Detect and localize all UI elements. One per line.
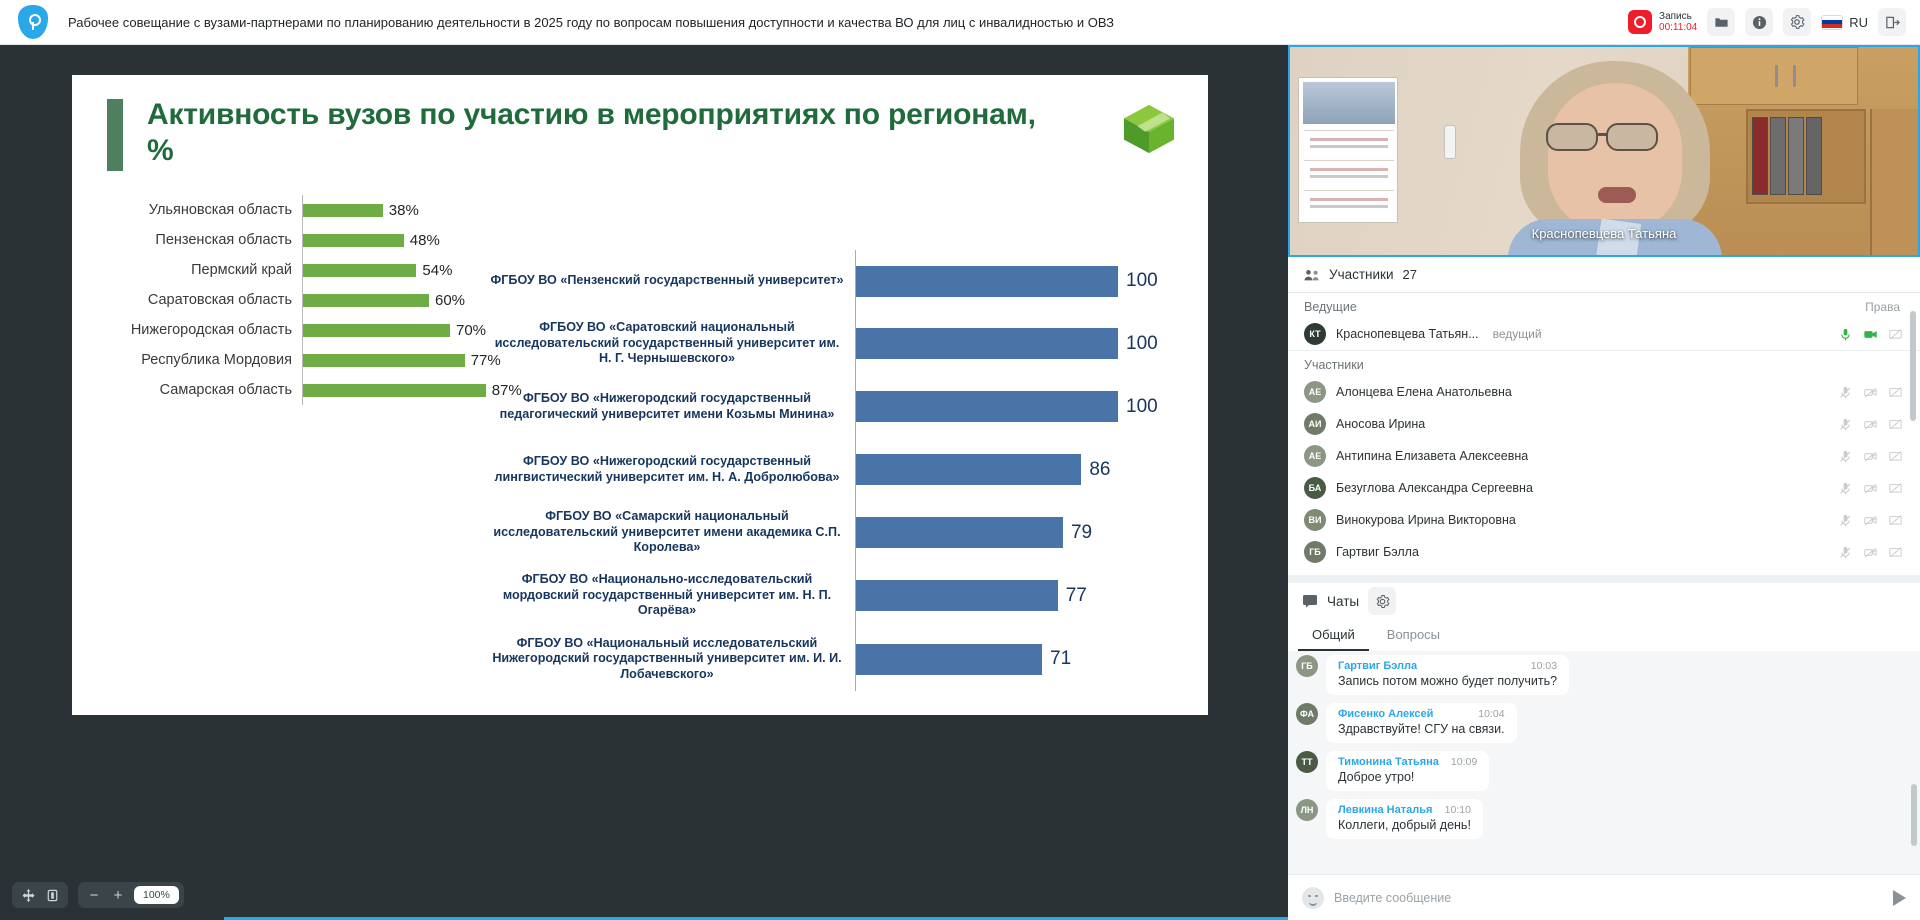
university-bar-row: ФГБОУ ВО «Нижегородский государственный … bbox=[487, 438, 1187, 501]
university-bar-track: 79 bbox=[855, 501, 1187, 564]
presentation-stage[interactable]: Активность вузов по участию в мероприяти… bbox=[0, 45, 1288, 920]
participant-row[interactable]: АЕАлонцева Елена Анатольевна bbox=[1288, 376, 1920, 408]
cube-decoration-icon bbox=[1120, 103, 1178, 155]
participant-controls bbox=[1839, 546, 1902, 559]
participant-name: Алонцева Елена Анатольевна bbox=[1336, 385, 1512, 399]
universities-bar-chart: ФГБОУ ВО «Пензенский государственный уни… bbox=[487, 250, 1187, 695]
send-icon[interactable] bbox=[1893, 890, 1906, 906]
message-time: 10:09 bbox=[1451, 756, 1477, 768]
message-author: Гартвиг Бэлла bbox=[1338, 660, 1417, 672]
top-bar: Рабочее совещание с вузами-партнерами по… bbox=[0, 0, 1920, 45]
recording-timer: 00:11:04 bbox=[1659, 22, 1697, 34]
microphone-icon[interactable] bbox=[1839, 328, 1852, 341]
chat-panel: Чаты ОбщийВопросы ГБГартвиг Бэлла10:03За… bbox=[1288, 575, 1920, 920]
regions-bar-label: Нижегородская область bbox=[92, 322, 302, 338]
avatar: ВИ bbox=[1304, 509, 1326, 531]
regions-bar-label: Самарская область bbox=[92, 382, 302, 398]
university-bar-row: ФГБОУ ВО «Национально-исследовательский … bbox=[487, 564, 1187, 627]
section-title: Ведущие bbox=[1304, 300, 1357, 314]
avatar: АИ bbox=[1304, 413, 1326, 435]
university-bar bbox=[856, 644, 1042, 675]
chat-message: ТТТимонина Татьяна10:09Доброе утро! bbox=[1296, 751, 1912, 791]
university-bar-row: ФГБОУ ВО «Самарский национальный исследо… bbox=[487, 501, 1187, 564]
video-frame bbox=[1290, 47, 1918, 255]
regions-bar-label: Республика Мордовия bbox=[92, 352, 302, 368]
camera-icon[interactable] bbox=[1864, 418, 1877, 431]
app-logo-icon bbox=[18, 5, 48, 39]
university-bar-value: 79 bbox=[1071, 522, 1092, 544]
emoji-icon[interactable] bbox=[1302, 887, 1324, 909]
participant-name: Антипина Елизавета Алексеевна bbox=[1336, 449, 1528, 463]
regions-bar-label: Пензенская область bbox=[92, 232, 302, 248]
university-bar bbox=[856, 328, 1118, 359]
camera-icon[interactable] bbox=[1864, 482, 1877, 495]
record-icon bbox=[1628, 10, 1652, 34]
university-bar bbox=[856, 454, 1081, 485]
university-bar-row: ФГБОУ ВО «Национальный исследовательский… bbox=[487, 627, 1187, 691]
university-bar-track: 100 bbox=[855, 250, 1187, 312]
avatar: ФА bbox=[1296, 703, 1318, 725]
university-bar-row: ФГБОУ ВО «Пензенский государственный уни… bbox=[487, 250, 1187, 312]
message-time: 10:04 bbox=[1478, 708, 1504, 720]
regions-bar bbox=[303, 384, 486, 397]
message-author: Фисенко Алексей bbox=[1338, 708, 1433, 720]
message-time: 10:10 bbox=[1445, 804, 1471, 816]
participant-row[interactable]: АЕАнтипина Елизавета Алексеевна bbox=[1288, 440, 1920, 472]
camera-icon[interactable] bbox=[1864, 386, 1877, 399]
message-time: 10:03 bbox=[1531, 660, 1557, 672]
regions-bar-row: Ульяновская область38% bbox=[92, 195, 542, 225]
message-author: Левкина Наталья bbox=[1338, 804, 1432, 816]
screen-share-icon[interactable] bbox=[1889, 328, 1902, 341]
university-bar bbox=[856, 580, 1058, 611]
university-bar-row: ФГБОУ ВО «Нижегородский государственный … bbox=[487, 375, 1187, 438]
participant-row[interactable]: БАБезуглова Александра Сергеевна bbox=[1288, 472, 1920, 504]
university-bar-track: 71 bbox=[855, 627, 1187, 691]
chat-input-row[interactable]: Введите сообщение bbox=[1288, 874, 1920, 920]
slide-canvas: Активность вузов по участию в мероприяти… bbox=[72, 75, 1208, 715]
chat-message: ЛНЛевкина Наталья10:10Коллеги, добрый де… bbox=[1296, 799, 1912, 839]
settings-button[interactable] bbox=[1783, 8, 1811, 36]
speaker-name-label: Краснопевцева Татьяна bbox=[1290, 226, 1918, 241]
screen-share-icon[interactable] bbox=[1889, 450, 1902, 463]
avatar: БА bbox=[1304, 477, 1326, 499]
regions-bar-row: Пензенская область48% bbox=[92, 225, 542, 255]
university-bar-value: 86 bbox=[1089, 459, 1110, 481]
regions-bar-value: 38% bbox=[389, 202, 419, 219]
university-bar-value: 100 bbox=[1126, 270, 1158, 292]
slide-title: Активность вузов по участию в мероприяти… bbox=[147, 97, 1067, 169]
participant-row-host[interactable]: КТКраснопевцева Татьян...ведущий bbox=[1288, 318, 1920, 351]
university-bar-value: 100 bbox=[1126, 396, 1158, 418]
university-bar-label: ФГБОУ ВО «Нижегородский государственный … bbox=[487, 391, 855, 422]
message-bubble: Фисенко Алексей10:04Здравствуйте! СГУ на… bbox=[1326, 703, 1517, 743]
chat-message: ГБГартвиг Бэлла10:03Запись потом можно б… bbox=[1296, 655, 1912, 695]
message-text: Здравствуйте! СГУ на связи. bbox=[1338, 722, 1505, 736]
avatar: ГБ bbox=[1296, 655, 1318, 677]
microphone-icon[interactable] bbox=[1839, 386, 1852, 399]
chat-title: Чаты bbox=[1327, 594, 1359, 609]
message-bubble: Левкина Наталья10:10Коллеги, добрый день… bbox=[1326, 799, 1483, 839]
fit-width-icon[interactable] bbox=[41, 884, 63, 906]
participant-controls bbox=[1839, 482, 1902, 495]
regions-bar-track: 38% bbox=[302, 195, 542, 225]
university-bar-track: 86 bbox=[855, 438, 1187, 501]
folder-icon bbox=[1714, 15, 1729, 30]
screen-share-icon[interactable] bbox=[1889, 386, 1902, 399]
participant-name: Гартвиг Бэлла bbox=[1336, 545, 1419, 559]
zoom-controls-group: − + 100% bbox=[78, 882, 184, 908]
regions-bar-value: 48% bbox=[410, 232, 440, 249]
microphone-icon[interactable] bbox=[1839, 546, 1852, 559]
participant-controls bbox=[1839, 450, 1902, 463]
message-bubble: Тимонина Татьяна10:09Доброе утро! bbox=[1326, 751, 1489, 791]
zoom-in-button[interactable]: + bbox=[107, 884, 129, 906]
regions-bar-row: Нижегородская область70% bbox=[92, 315, 542, 345]
speaker-video-tile[interactable]: Краснопевцева Татьяна bbox=[1288, 45, 1920, 257]
chat-settings-button[interactable] bbox=[1368, 587, 1396, 615]
participant-controls bbox=[1839, 386, 1902, 399]
regions-bar-label: Ульяновская область bbox=[92, 202, 302, 218]
message-bubble: Гартвиг Бэлла10:03Запись потом можно буд… bbox=[1326, 655, 1569, 695]
language-code: RU bbox=[1849, 15, 1868, 30]
university-bar-label: ФГБОУ ВО «Самарский национальный исследо… bbox=[487, 509, 855, 555]
flag-ru-icon bbox=[1821, 15, 1843, 30]
university-bar-value: 71 bbox=[1050, 648, 1071, 670]
microphone-icon[interactable] bbox=[1839, 514, 1852, 527]
participant-row[interactable]: ВИВинокурова Ирина Викторовна bbox=[1288, 504, 1920, 536]
participants-header[interactable]: Участники 27 bbox=[1288, 257, 1920, 293]
chat-scrollbar[interactable] bbox=[1911, 657, 1917, 868]
language-selector[interactable]: RU bbox=[1821, 15, 1868, 30]
avatar: АЕ bbox=[1304, 381, 1326, 403]
university-bar bbox=[856, 266, 1118, 297]
regions-bar-chart: Ульяновская область38%Пензенская область… bbox=[92, 195, 542, 415]
participants-count: 27 bbox=[1403, 267, 1417, 282]
university-bar-track: 100 bbox=[855, 375, 1187, 438]
participant-controls bbox=[1839, 328, 1902, 341]
microphone-icon[interactable] bbox=[1839, 450, 1852, 463]
leave-button[interactable] bbox=[1878, 8, 1906, 36]
chat-tabs: ОбщийВопросы bbox=[1288, 619, 1920, 651]
chat-input-placeholder[interactable]: Введите сообщение bbox=[1334, 891, 1883, 905]
message-text: Коллеги, добрый день! bbox=[1338, 818, 1471, 832]
pan-tools-group bbox=[12, 882, 68, 908]
pan-move-icon[interactable] bbox=[17, 884, 39, 906]
camera-icon[interactable] bbox=[1864, 328, 1877, 341]
zoom-out-button[interactable]: − bbox=[83, 884, 105, 906]
university-bar-track: 77 bbox=[855, 564, 1187, 627]
regions-bar bbox=[303, 294, 429, 307]
university-bar-label: ФГБОУ ВО «Пензенский государственный уни… bbox=[487, 273, 855, 288]
participant-row[interactable]: ГБГартвиг Бэлла bbox=[1288, 536, 1920, 568]
university-bar-row: ФГБОУ ВО «Саратовский национальный иссле… bbox=[487, 312, 1187, 375]
regions-bar-value: 70% bbox=[456, 322, 486, 339]
university-bar-track: 100 bbox=[855, 312, 1187, 375]
participants-list[interactable]: ВедущиеПраваКТКраснопевцева Татьян...вед… bbox=[1288, 293, 1920, 575]
university-bar bbox=[856, 517, 1063, 548]
avatar: АЕ bbox=[1304, 445, 1326, 467]
participant-row[interactable]: АИАносова Ирина bbox=[1288, 408, 1920, 440]
exit-icon bbox=[1885, 15, 1900, 30]
files-button[interactable] bbox=[1707, 8, 1735, 36]
screen-share-icon[interactable] bbox=[1889, 418, 1902, 431]
message-text: Запись потом можно будет получить? bbox=[1338, 674, 1557, 688]
participants-title: Участники bbox=[1329, 267, 1394, 282]
participant-controls bbox=[1839, 514, 1902, 527]
chat-bubble-icon bbox=[1302, 594, 1318, 608]
regions-bar bbox=[303, 324, 450, 337]
regions-bar bbox=[303, 204, 383, 217]
camera-icon[interactable] bbox=[1864, 450, 1877, 463]
regions-bar-label: Саратовская область bbox=[92, 292, 302, 308]
participant-name: Винокурова Ирина Викторовна bbox=[1336, 513, 1516, 527]
participant-name: Краснопевцева Татьян... bbox=[1336, 327, 1479, 341]
top-bar-actions: Запись 00:11:04 bbox=[1628, 8, 1906, 36]
gear-icon bbox=[1789, 14, 1805, 30]
chat-message: ФАФисенко Алексей10:04Здравствуйте! СГУ … bbox=[1296, 703, 1912, 743]
gear-icon bbox=[1375, 594, 1390, 609]
university-bar-label: ФГБОУ ВО «Национально-исследовательский … bbox=[487, 572, 855, 618]
university-bar-label: ФГБОУ ВО «Саратовский национальный иссле… bbox=[487, 320, 855, 366]
message-author: Тимонина Татьяна bbox=[1338, 756, 1439, 768]
participant-role: ведущий bbox=[1493, 327, 1542, 341]
section-title: Участники bbox=[1304, 358, 1364, 372]
screen-share-icon[interactable] bbox=[1889, 514, 1902, 527]
camera-icon[interactable] bbox=[1864, 546, 1877, 559]
zoom-level[interactable]: 100% bbox=[134, 886, 179, 904]
slide-zoom-toolbar: − + 100% bbox=[12, 882, 184, 908]
meeting-title: Рабочее совещание с вузами-партнерами по… bbox=[68, 15, 1628, 30]
avatar: ГБ bbox=[1304, 541, 1326, 563]
regions-bar bbox=[303, 354, 465, 367]
microphone-icon[interactable] bbox=[1839, 482, 1852, 495]
university-bar-value: 77 bbox=[1066, 585, 1087, 607]
slide-title-row: Активность вузов по участию в мероприяти… bbox=[107, 97, 1177, 171]
participants-scrollbar[interactable] bbox=[1910, 297, 1916, 571]
participant-controls bbox=[1839, 418, 1902, 431]
microphone-icon[interactable] bbox=[1839, 418, 1852, 431]
screen-share-icon[interactable] bbox=[1889, 546, 1902, 559]
screen-share-icon[interactable] bbox=[1889, 482, 1902, 495]
participants-section-hosts: ВедущиеПрава bbox=[1288, 293, 1920, 318]
conference-app: Рабочее совещание с вузами-партнерами по… bbox=[0, 0, 1920, 920]
rights-column-label: Права bbox=[1865, 300, 1900, 314]
title-accent-bar bbox=[107, 99, 123, 171]
university-bar-value: 100 bbox=[1126, 333, 1158, 355]
avatar: ЛН bbox=[1296, 799, 1318, 821]
participants-section-members: Участники bbox=[1288, 351, 1920, 376]
right-panel: Краснопевцева Татьяна Участники 27 Ведущ… bbox=[1288, 45, 1920, 920]
camera-icon[interactable] bbox=[1864, 514, 1877, 527]
regions-bar-row: Пермский край54% bbox=[92, 255, 542, 285]
regions-bar-row: Республика Мордовия77% bbox=[92, 345, 542, 375]
people-icon bbox=[1304, 268, 1320, 282]
message-text: Доброе утро! bbox=[1338, 770, 1477, 784]
regions-bar-value: 54% bbox=[422, 262, 452, 279]
university-bar-label: ФГБОУ ВО «Национальный исследовательский… bbox=[487, 636, 855, 682]
chat-messages[interactable]: ГБГартвиг Бэлла10:03Запись потом можно б… bbox=[1288, 651, 1920, 874]
avatar: КТ bbox=[1304, 323, 1326, 345]
regions-bar bbox=[303, 264, 416, 277]
info-button[interactable] bbox=[1745, 8, 1773, 36]
chat-tab-questions[interactable]: Вопросы bbox=[1373, 619, 1454, 651]
regions-bar-row: Самарская область87% bbox=[92, 375, 542, 405]
recording-label: Запись bbox=[1659, 11, 1697, 23]
avatar: ТТ bbox=[1296, 751, 1318, 773]
chat-header: Чаты bbox=[1288, 583, 1920, 619]
regions-bar-value: 60% bbox=[435, 292, 465, 309]
regions-bar bbox=[303, 234, 404, 247]
regions-bar-label: Пермский край bbox=[92, 262, 302, 278]
participant-name: Безуглова Александра Сергеевна bbox=[1336, 481, 1533, 495]
chat-tab-general[interactable]: Общий bbox=[1298, 619, 1369, 651]
university-bar bbox=[856, 391, 1118, 422]
participant-name: Аносова Ирина bbox=[1336, 417, 1425, 431]
info-icon bbox=[1752, 15, 1767, 30]
recording-indicator[interactable]: Запись 00:11:04 bbox=[1628, 10, 1697, 34]
university-bar-label: ФГБОУ ВО «Нижегородский государственный … bbox=[487, 454, 855, 485]
regions-bar-row: Саратовская область60% bbox=[92, 285, 542, 315]
